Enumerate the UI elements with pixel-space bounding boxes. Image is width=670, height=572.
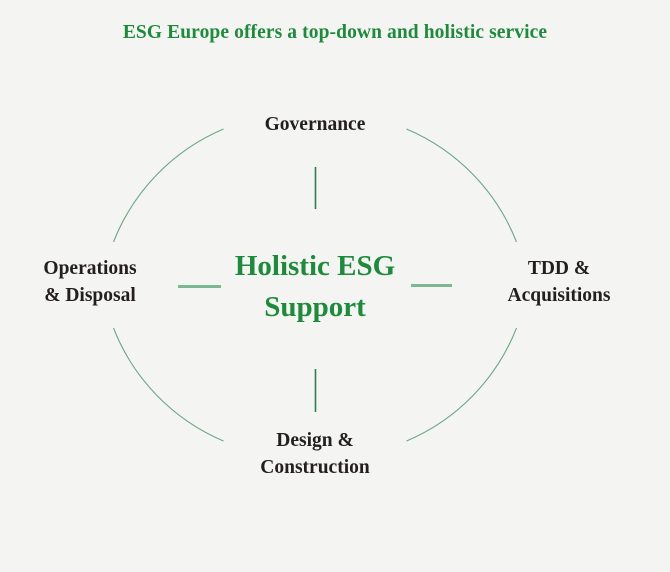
node-label-design-construction: Design & Construction: [215, 427, 415, 481]
node-label-operations-disposal: Operations & Disposal: [2, 255, 178, 309]
diagram-page: ESG Europe offers a top-down and holisti…: [0, 0, 670, 572]
arc-top-left: [114, 129, 224, 242]
node-label-tdd-acquisitions: TDD & Acquisitions: [452, 255, 666, 309]
center-label-holistic-esg-support: Holistic ESG Support: [205, 246, 425, 328]
arc-top-right: [407, 129, 517, 242]
node-label-governance: Governance: [215, 111, 415, 138]
arc-bottom-right: [407, 328, 517, 441]
arc-bottom-left: [114, 328, 224, 441]
